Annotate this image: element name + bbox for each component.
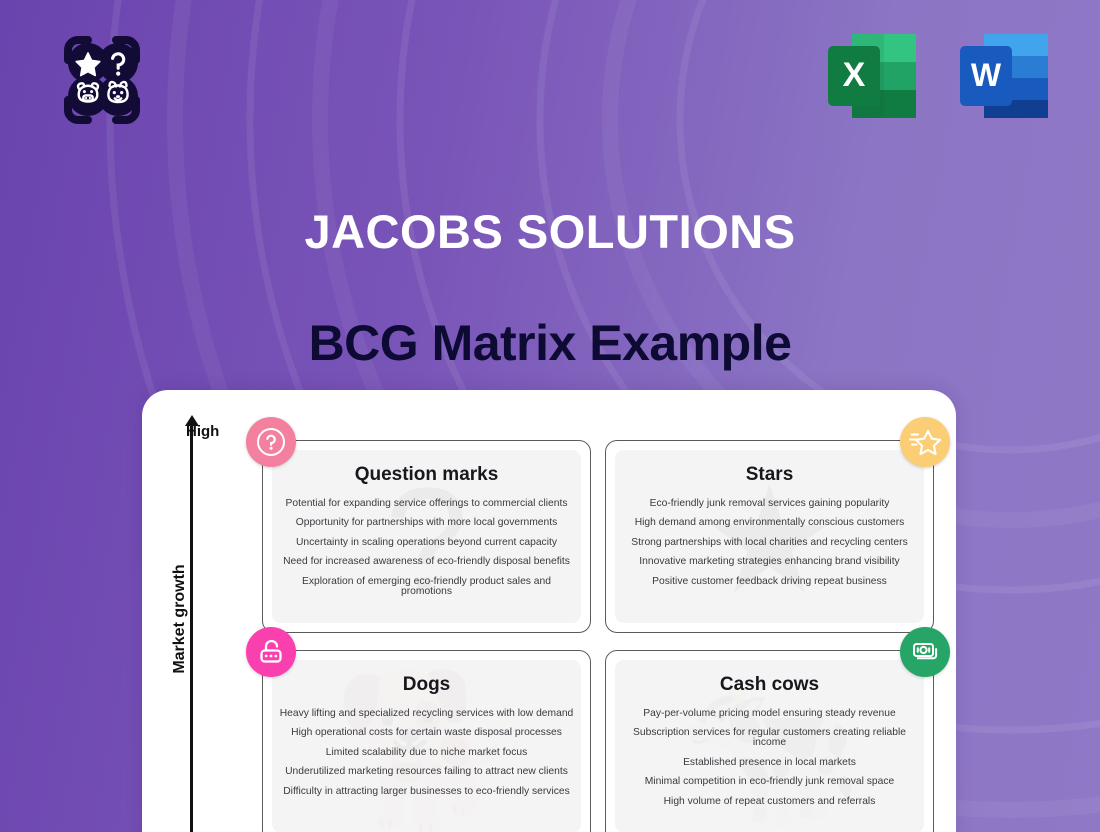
quadrant-item: Potential for expanding service offering… bbox=[272, 494, 581, 513]
word-icon[interactable]: W bbox=[956, 26, 1052, 126]
excel-icon[interactable]: X bbox=[824, 26, 920, 126]
quadrant-stars[interactable]: ★ Stars Eco-friendly junk removal servic… bbox=[605, 440, 934, 633]
quadrant-item: Limited scalability due to niche market … bbox=[272, 743, 581, 762]
quadrant-item: Established presence in local markets bbox=[615, 753, 924, 772]
matrix-panel: High Market growth ? Question marks Pote… bbox=[142, 390, 956, 832]
quadrant-item: Heavy lifting and specialized recycling … bbox=[272, 704, 581, 723]
quadrant-item: Difficulty in attracting larger business… bbox=[272, 782, 581, 801]
quadrant-item: High demand among environmentally consci… bbox=[615, 513, 924, 532]
quadrant-title: Question marks bbox=[272, 464, 581, 486]
page-title: BCG Matrix Example bbox=[0, 315, 1100, 373]
quadrant-title: Dogs bbox=[272, 674, 581, 696]
question-mark-icon bbox=[246, 417, 296, 467]
quadrant-item: Exploration of emerging eco-friendly pro… bbox=[272, 572, 581, 602]
quadrant-title: Cash cows bbox=[615, 674, 924, 696]
quadrant-item: Underutilized marketing resources failin… bbox=[272, 762, 581, 781]
quadrant-item: Subscription services for regular custom… bbox=[615, 723, 924, 753]
quadrant-item-list: Eco-friendly junk removal services gaini… bbox=[615, 494, 924, 591]
quadrant-question-marks[interactable]: ? Question marks Potential for expanding… bbox=[262, 440, 591, 633]
quadrant-item: High operational costs for certain waste… bbox=[272, 723, 581, 742]
bcg-matrix-logo-icon bbox=[48, 26, 156, 134]
open-padlock-icon bbox=[246, 627, 296, 677]
quadrant-body: ? Question marks Potential for expanding… bbox=[272, 450, 581, 623]
quadrant-cash-cows[interactable]: 🐄 Cash cows Pay-per-volume pricing model… bbox=[605, 650, 934, 832]
quadrant-item: High volume of repeat customers and refe… bbox=[615, 792, 924, 811]
brand-title: JACOBS SOLUTIONS bbox=[0, 206, 1100, 258]
quadrant-item-list: Pay-per-volume pricing model ensuring st… bbox=[615, 704, 924, 812]
quadrant-title: Stars bbox=[615, 464, 924, 486]
quadrant-item: Opportunity for partnerships with more l… bbox=[272, 513, 581, 532]
quadrant-item: Need for increased awareness of eco-frie… bbox=[272, 552, 581, 571]
quadrant-item: Pay-per-volume pricing model ensuring st… bbox=[615, 704, 924, 723]
quadrant-item: Minimal competition in eco-friendly junk… bbox=[615, 773, 924, 792]
quadrant-item: Positive customer feedback driving repea… bbox=[615, 572, 924, 591]
svg-text:W: W bbox=[971, 57, 1002, 93]
quadrant-body: 🐄 Cash cows Pay-per-volume pricing model… bbox=[615, 660, 924, 832]
export-format-icons: X W bbox=[824, 26, 1052, 126]
quadrant-item: Innovative marketing strategies enhancin… bbox=[615, 552, 924, 571]
axis-vertical-label: Market growth bbox=[171, 539, 189, 699]
bcg-matrix-grid: ? Question marks Potential for expanding… bbox=[262, 440, 934, 832]
quadrant-item: Strong partnerships with local charities… bbox=[615, 533, 924, 552]
slide-canvas: X W JACOBS SOLUTIONS BCG Matrix Example … bbox=[0, 0, 1100, 832]
svg-text:X: X bbox=[843, 56, 866, 94]
quadrant-item-list: Heavy lifting and specialized recycling … bbox=[272, 704, 581, 801]
banknotes-icon bbox=[900, 627, 950, 677]
quadrant-dogs[interactable]: 🐕 Dogs Heavy lifting and specialized rec… bbox=[262, 650, 591, 832]
axis-high-label: High bbox=[186, 423, 219, 440]
quadrant-body: ★ Stars Eco-friendly junk removal servic… bbox=[615, 450, 924, 623]
quadrant-item-list: Potential for expanding service offering… bbox=[272, 494, 581, 602]
quadrant-item: Uncertainty in scaling operations beyond… bbox=[272, 533, 581, 552]
quadrant-item: Eco-friendly junk removal services gaini… bbox=[615, 494, 924, 513]
quadrant-body: 🐕 Dogs Heavy lifting and specialized rec… bbox=[272, 660, 581, 832]
market-growth-axis bbox=[190, 424, 193, 832]
star-icon bbox=[900, 417, 950, 467]
